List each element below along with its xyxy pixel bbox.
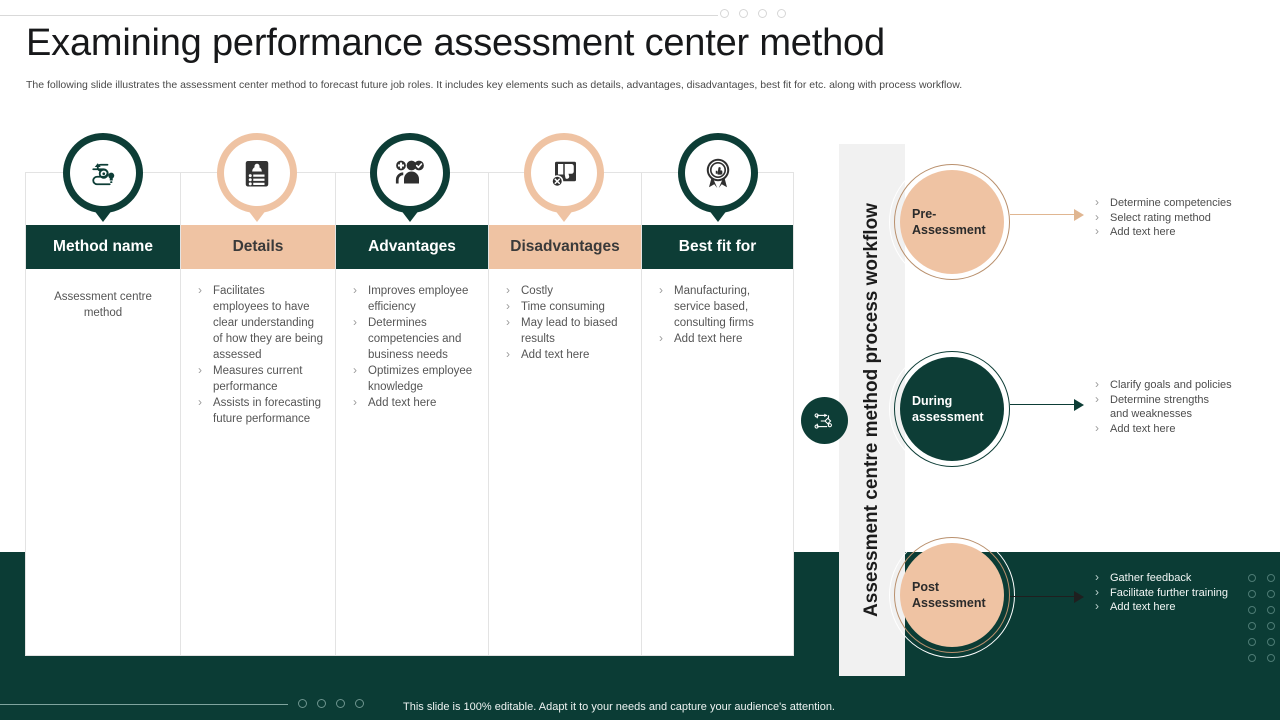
dot [1267, 590, 1275, 598]
footer-dots-decoration [298, 699, 364, 708]
dot [1248, 654, 1256, 662]
list-item: Add text here [1092, 600, 1228, 615]
list-item: Add text here [501, 347, 629, 363]
list-item: Measures current performance [193, 363, 323, 395]
page-subtitle: The following slide illustrates the asse… [26, 78, 1146, 92]
slide: Examining performance assessment center … [0, 0, 1280, 720]
arrow-pre-assessment [1010, 208, 1084, 222]
list-item: Select rating method [1092, 211, 1232, 226]
badge-inner [377, 140, 443, 206]
list-item: Improves employee efficiency [348, 283, 476, 315]
arrow-during-assessment [1010, 398, 1084, 412]
list-item: Costly [501, 283, 629, 299]
award-ribbon-icon [700, 155, 736, 191]
dot [1248, 622, 1256, 630]
stage-label: Pre-Assessment [912, 206, 994, 238]
dot [1267, 654, 1275, 662]
list-item: Gather feedback [1092, 571, 1228, 586]
thumbs-down-cross-icon [546, 155, 582, 191]
workflow-list-during-assessment: Clarify goals and policies Determine str… [1092, 378, 1232, 436]
dot [1248, 638, 1256, 646]
dot [758, 9, 767, 18]
list-item: Add text here [1092, 422, 1232, 437]
dot [720, 9, 729, 18]
dot [1248, 606, 1256, 614]
dot [739, 9, 748, 18]
list-item: Optimizes employee knowledge [348, 363, 476, 395]
dot [336, 699, 345, 708]
cell-list: Improves employee efficiency Determines … [348, 283, 476, 411]
badge-disadvantages [524, 133, 604, 213]
clipboard-checklist-icon [239, 155, 275, 191]
column-header: Disadvantages [489, 225, 641, 269]
list-item: Determine strengths and weaknesses [1092, 393, 1212, 422]
workflow-hub-icon-wrapper [801, 397, 848, 444]
comparison-table: Method name Assessment centre method Det… [25, 172, 794, 656]
dot [355, 699, 364, 708]
dot [777, 9, 786, 18]
dot [1267, 638, 1275, 646]
cell-list: Costly Time consuming May lead to biased… [501, 283, 629, 363]
badge-best-fit-for [678, 133, 758, 213]
dot [317, 699, 326, 708]
badge-inner [70, 140, 136, 206]
list-item: Add text here [1092, 225, 1232, 240]
workflow-band-label: Assessment centre method process workflo… [861, 203, 883, 617]
badge-caret [244, 205, 270, 222]
list-item: Determines competencies and business nee… [348, 315, 476, 363]
workflow-list-pre-assessment: Determine competencies Select rating met… [1092, 196, 1232, 240]
workflow-stage-pre-assessment[interactable]: Pre-Assessment [900, 170, 1004, 274]
list-item: Add text here [654, 331, 781, 347]
badge-inner [531, 140, 597, 206]
list-item: Clarify goals and policies [1092, 378, 1232, 393]
list-item: Manufacturing, service based, consulting… [654, 283, 781, 331]
top-dots-decoration [720, 9, 786, 18]
add-person-check-icon [392, 155, 428, 191]
arrow-post-assessment [1010, 590, 1084, 604]
list-item: Add text here [348, 395, 476, 411]
list-item: Determine competencies [1092, 196, 1232, 211]
cell-text: Assessment centre method [38, 283, 168, 321]
dot-grid-decoration [1248, 570, 1280, 666]
list-item: Facilitates employees to have clear unde… [193, 283, 323, 363]
table-column-method-name: Method name Assessment centre method [26, 173, 181, 655]
list-item: May lead to biased results [501, 315, 629, 347]
table-column-best-fit-for: Best fit for Manufacturing, service base… [642, 173, 793, 655]
badge-inner [224, 140, 290, 206]
workflow-stage-during-assessment[interactable]: During assessment [900, 357, 1004, 461]
badge-method-name [63, 133, 143, 213]
badge-inner [685, 140, 751, 206]
dot [1248, 590, 1256, 598]
table-column-details: Details Facilitates employees to have cl… [181, 173, 336, 655]
badge-caret [90, 205, 116, 222]
list-item: Time consuming [501, 299, 629, 315]
dot [1248, 574, 1256, 582]
process-flow-icon [811, 407, 839, 435]
dot [298, 699, 307, 708]
footer-note: This slide is 100% editable. Adapt it to… [403, 701, 835, 713]
dot [1267, 606, 1275, 614]
list-item: Assists in forecasting future performanc… [193, 395, 323, 427]
list-item: Facilitate further training [1092, 586, 1228, 601]
table-column-advantages: Advantages Improves employee efficiency … [336, 173, 489, 655]
cell-list: Manufacturing, service based, consulting… [654, 283, 781, 347]
page-title: Examining performance assessment center … [26, 22, 885, 65]
stage-label: During assessment [912, 393, 994, 425]
column-header: Method name [26, 225, 180, 269]
top-divider [0, 15, 718, 16]
dot [1267, 622, 1275, 630]
table-column-disadvantages: Disadvantages Costly Time consuming May … [489, 173, 642, 655]
workflow-stage-post-assessment[interactable]: Post Assessment [900, 543, 1004, 647]
stage-label: Post Assessment [912, 579, 994, 611]
badge-details [217, 133, 297, 213]
footer-divider [0, 704, 288, 705]
process-flow-idea-icon [85, 155, 121, 191]
badge-caret [551, 205, 577, 222]
cell-list: Facilitates employees to have clear unde… [193, 283, 323, 427]
column-header: Best fit for [642, 225, 793, 269]
column-header: Advantages [336, 225, 488, 269]
badge-caret [705, 205, 731, 222]
dot [1267, 574, 1275, 582]
workflow-list-post-assessment: Gather feedback Facilitate further train… [1092, 571, 1228, 615]
badge-caret [397, 205, 423, 222]
badge-advantages [370, 133, 450, 213]
column-header: Details [181, 225, 335, 269]
